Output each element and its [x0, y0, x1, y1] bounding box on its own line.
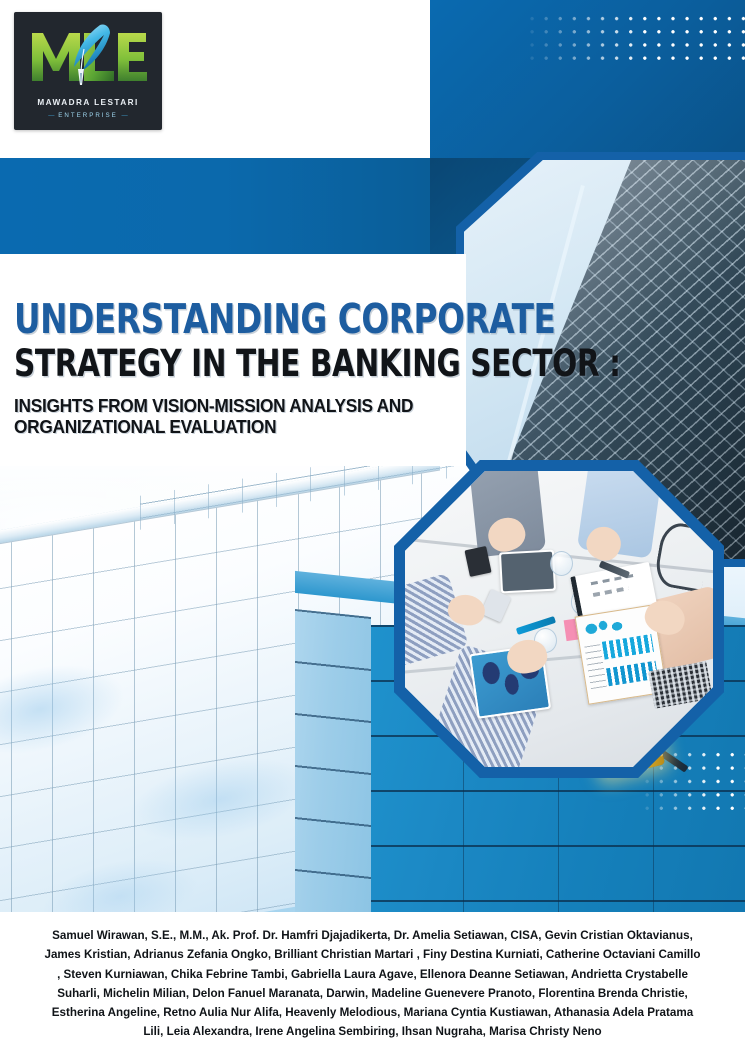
title-line-2: STRATEGY IN THE BANKING SECTOR : [14, 346, 390, 382]
title-line-1: UNDERSTANDING CORPORATE [14, 300, 390, 339]
report-bar-chart-top [601, 634, 653, 660]
book-cover: MAWADRA LESTARI — ENTERPRISE — UNDERSTAN… [0, 0, 745, 1059]
tower-corner-windows [295, 609, 371, 915]
title-subtitle: INSIGHTS FROM VISION-MISSION ANALYSIS AN… [14, 396, 461, 440]
logo-dash-left: — [48, 112, 54, 119]
octagon-photo-meeting [405, 471, 713, 767]
smartphone-dark [464, 546, 491, 577]
logo-name-line1: MAWADRA LESTARI [14, 98, 162, 107]
water-glass-1 [550, 551, 573, 576]
publisher-logo: MAWADRA LESTARI — ENTERPRISE — [14, 12, 162, 130]
logo-monogram-quill-icon [14, 20, 162, 90]
report-world-map [582, 614, 627, 640]
authors-section: Samuel Wirawan, S.E., M.M., Ak. Prof. Dr… [0, 912, 745, 1059]
laptop-keyboard [648, 662, 712, 710]
octagon-frame-meeting [394, 460, 724, 778]
logo-card: MAWADRA LESTARI — ENTERPRISE — [0, 0, 430, 158]
authors-list: Samuel Wirawan, S.E., M.M., Ak. Prof. Dr… [42, 926, 704, 1042]
logo-dash-right: — [122, 112, 128, 119]
logo-name-line2-text: ENTERPRISE [58, 112, 118, 119]
dot-grid-pattern-top-icon [525, 12, 745, 64]
logo-name-line2: — ENTERPRISE — [14, 112, 162, 119]
tablet-device [499, 549, 557, 593]
title-block: UNDERSTANDING CORPORATE STRATEGY IN THE … [14, 300, 484, 439]
